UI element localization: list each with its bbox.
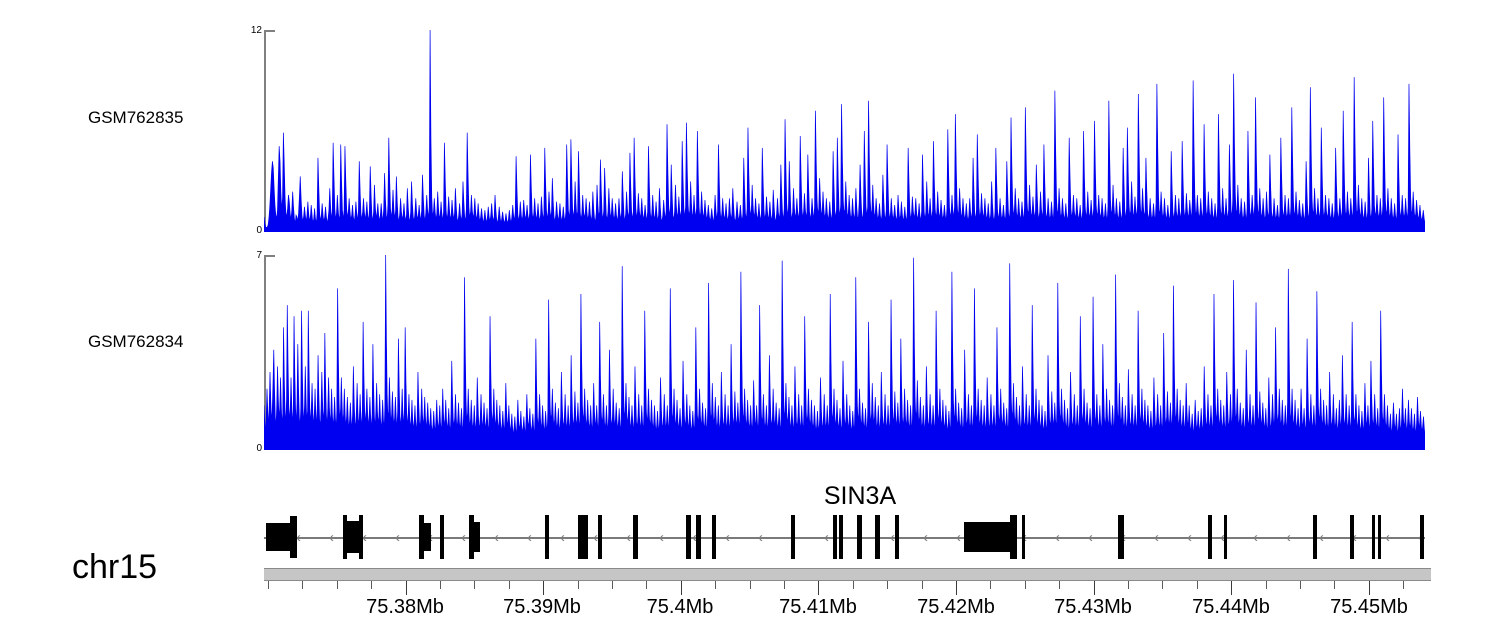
strand-arrow-icon: ‹ <box>626 530 631 545</box>
strand-arrow-icon: ‹ <box>1088 530 1093 545</box>
ruler-tick-minor <box>922 581 923 589</box>
ruler-tick-minor <box>715 581 716 589</box>
exon-block <box>857 515 862 559</box>
signal-plot-gsm762834[interactable] <box>264 255 1425 450</box>
exon-block <box>424 523 431 551</box>
strand-arrow-icon: ‹ <box>428 530 433 545</box>
strand-arrow-icon: ‹ <box>1352 530 1357 545</box>
ruler-tick-minor <box>1403 581 1404 589</box>
exon-block <box>1022 515 1025 559</box>
y-axis-min-label: 0 <box>256 444 262 454</box>
ruler-tick-minor <box>337 581 338 589</box>
strand-arrow-icon: ‹ <box>1319 530 1324 545</box>
exon-block <box>1378 515 1381 559</box>
exon-block <box>419 515 424 559</box>
strand-arrow-icon: ‹ <box>1154 530 1159 545</box>
strand-arrow-icon: ‹ <box>461 530 466 545</box>
ruler-tick-minor <box>578 581 579 589</box>
exon-block <box>578 515 588 559</box>
exon-block <box>266 523 290 551</box>
ruler-tick-minor <box>1059 581 1060 589</box>
exon-block <box>712 515 716 559</box>
strand-arrow-icon: ‹ <box>857 530 862 545</box>
exon-block <box>633 515 638 559</box>
exon-block <box>469 515 474 559</box>
strand-arrow-icon: ‹ <box>824 530 829 545</box>
exon-block <box>290 516 297 558</box>
ruler-tick-minor <box>509 581 510 589</box>
exon-block <box>791 515 795 559</box>
exon-block <box>1420 515 1424 559</box>
ruler-tick-major <box>1369 581 1370 595</box>
ruler-coordinate-label: 75.38Mb <box>366 596 444 619</box>
exon-block <box>839 515 843 559</box>
strand-arrow-icon: ‹ <box>791 530 796 545</box>
exon-block <box>1208 515 1212 559</box>
exon-block <box>1010 515 1017 559</box>
ruler-tick-minor <box>440 581 441 589</box>
strand-arrow-icon: ‹ <box>1286 530 1291 545</box>
ruler-tick-minor <box>1197 581 1198 589</box>
ruler-tick-minor <box>1025 581 1026 589</box>
strand-arrow-icon: ‹ <box>527 530 532 545</box>
strand-arrow-icon: ‹ <box>1187 530 1192 545</box>
exon-block <box>696 515 701 559</box>
ruler-coordinate-label: 75.43Mb <box>1054 596 1132 619</box>
strand-arrow-icon: ‹ <box>1022 530 1027 545</box>
exon-block <box>895 515 899 559</box>
ruler-tick-major <box>1231 581 1232 595</box>
ruler-coordinate-label: 75.39Mb <box>503 596 581 619</box>
ruler-coordinate-label: 75.44Mb <box>1192 596 1270 619</box>
ruler-coordinate-label: 75.41Mb <box>779 596 857 619</box>
ruler-tick-minor <box>1128 581 1129 589</box>
strand-arrow-icon: ‹ <box>560 530 565 545</box>
exon-block <box>598 515 602 559</box>
ruler-tick-minor <box>887 581 888 589</box>
ruler-tick-minor <box>1300 581 1301 589</box>
strand-arrow-icon: ‹ <box>923 530 928 545</box>
strand-arrow-icon: ‹ <box>1418 530 1423 545</box>
exon-block <box>1313 515 1317 559</box>
exon-block <box>1372 515 1375 559</box>
ruler-coordinate-label: 75.42Mb <box>917 596 995 619</box>
ruler-tick-minor <box>1162 581 1163 589</box>
strand-arrow-icon: ‹ <box>692 530 697 545</box>
genome-browser: GSM762835120GSM76283470 SIN3A ‹‹‹‹‹‹‹‹‹‹… <box>0 0 1500 640</box>
exon-block <box>474 522 480 552</box>
y-axis-max-label: 12 <box>251 26 262 36</box>
exon-block <box>440 515 444 559</box>
ruler-tick-major <box>818 581 819 595</box>
ruler-coordinate-label: 75.4Mb <box>647 596 714 619</box>
strand-arrow-icon: ‹ <box>1385 530 1390 545</box>
coordinate-ruler-bar[interactable] <box>264 568 1431 581</box>
exon-block <box>964 522 1012 552</box>
ruler-tick-minor <box>750 581 751 589</box>
ruler-tick-major <box>956 581 957 595</box>
strand-arrow-icon: ‹ <box>296 530 301 545</box>
strand-arrow-icon: ‹ <box>989 530 994 545</box>
strand-arrow-icon: ‹ <box>1220 530 1225 545</box>
exon-block <box>833 515 837 559</box>
exon-block <box>1224 515 1227 559</box>
ruler-tick-major <box>543 581 544 595</box>
chromosome-label: chr15 <box>72 548 157 587</box>
ruler-tick-minor <box>646 581 647 589</box>
y-axis-max-label: 7 <box>256 251 262 261</box>
strand-arrow-icon: ‹ <box>494 530 499 545</box>
intron-line <box>264 537 1425 539</box>
strand-arrow-icon: ‹ <box>362 530 367 545</box>
ruler-tick-major <box>406 581 407 595</box>
ruler-tick-minor <box>990 581 991 589</box>
ruler-tick-minor <box>1266 581 1267 589</box>
ruler-tick-minor <box>784 581 785 589</box>
strand-arrow-icon: ‹ <box>1055 530 1060 545</box>
track-label-gsm762835: GSM762835 <box>88 108 183 128</box>
strand-arrow-icon: ‹ <box>725 530 730 545</box>
exon-block <box>1118 515 1124 559</box>
exon-block <box>875 515 880 559</box>
strand-arrow-icon: ‹ <box>329 530 334 545</box>
strand-arrow-icon: ‹ <box>758 530 763 545</box>
strand-arrow-icon: ‹ <box>593 530 598 545</box>
strand-arrow-icon: ‹ <box>890 530 895 545</box>
strand-arrow-icon: ‹ <box>1253 530 1258 545</box>
ruler-tick-minor <box>474 581 475 589</box>
ruler-tick-major <box>1094 581 1095 595</box>
exon-block <box>343 515 347 559</box>
strand-arrow-icon: ‹ <box>395 530 400 545</box>
exon-block <box>1350 515 1354 559</box>
exon-block <box>359 515 363 559</box>
ruler-tick-minor <box>1334 581 1335 589</box>
exon-block <box>686 515 691 559</box>
ruler-coordinate-label: 75.45Mb <box>1330 596 1408 619</box>
y-axis-min-label: 0 <box>256 226 262 236</box>
ruler-tick-major <box>681 581 682 595</box>
gene-label-sin3a: SIN3A <box>824 482 896 511</box>
ruler-tick-minor <box>612 581 613 589</box>
signal-plot-gsm762835[interactable] <box>264 30 1425 232</box>
strand-arrow-icon: ‹ <box>1121 530 1126 545</box>
exon-block <box>347 521 359 553</box>
strand-arrow-icon: ‹ <box>956 530 961 545</box>
ruler-tick-minor <box>302 581 303 589</box>
ruler-tick-minor <box>268 581 269 589</box>
ruler-tick-minor <box>371 581 372 589</box>
track-label-gsm762834: GSM762834 <box>88 332 183 352</box>
ruler-tick-minor <box>853 581 854 589</box>
exon-block <box>545 515 549 559</box>
strand-arrow-icon: ‹ <box>659 530 664 545</box>
